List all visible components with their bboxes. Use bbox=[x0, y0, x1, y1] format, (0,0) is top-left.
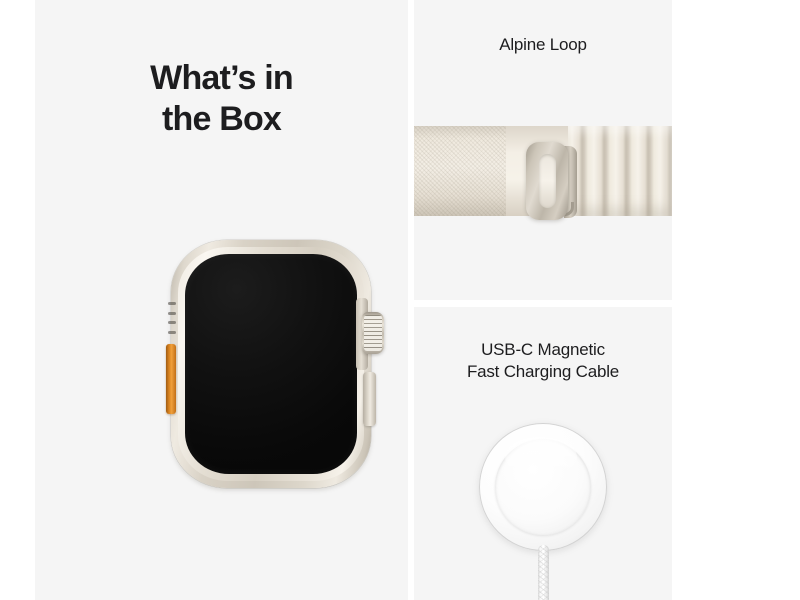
watch-digital-crown bbox=[362, 312, 384, 354]
charging-cable-label-line-2: Fast Charging Cable bbox=[467, 362, 619, 381]
band-loop-ribs bbox=[562, 126, 672, 216]
charging-cable-label-line-1: USB-C Magnetic bbox=[481, 340, 605, 359]
magnetic-charger-image bbox=[479, 423, 607, 600]
watch-action-button bbox=[166, 344, 176, 414]
watch-digital-crown-ridges bbox=[364, 315, 382, 351]
page-title: What’s in the Box bbox=[35, 58, 408, 141]
band-buckle-opening bbox=[539, 154, 556, 208]
alpine-loop-band-image bbox=[414, 126, 672, 216]
page-title-line-2: the Box bbox=[162, 100, 281, 138]
band-titanium-buckle bbox=[526, 142, 568, 220]
panel-charging-cable[interactable]: USB-C Magnetic Fast Charging Cable bbox=[414, 307, 672, 600]
watch-display bbox=[185, 254, 357, 474]
alpine-loop-label: Alpine Loop bbox=[414, 34, 672, 56]
cable-braid-texture bbox=[538, 545, 549, 600]
panel-whats-in-the-box[interactable]: What’s in the Box bbox=[35, 0, 408, 600]
charger-puck-highlight bbox=[505, 437, 577, 477]
page-title-line-1: What’s in bbox=[150, 59, 293, 97]
whats-in-the-box-gallery: What’s in the Box Alpine Loop bbox=[0, 0, 800, 600]
watch-speaker-grille bbox=[168, 302, 176, 334]
apple-watch-ultra-image bbox=[163, 240, 385, 488]
watch-side-button bbox=[363, 372, 376, 426]
charger-braided-cable bbox=[538, 545, 549, 600]
charging-cable-label: USB-C Magnetic Fast Charging Cable bbox=[414, 339, 672, 384]
panel-alpine-loop[interactable]: Alpine Loop bbox=[414, 0, 672, 300]
